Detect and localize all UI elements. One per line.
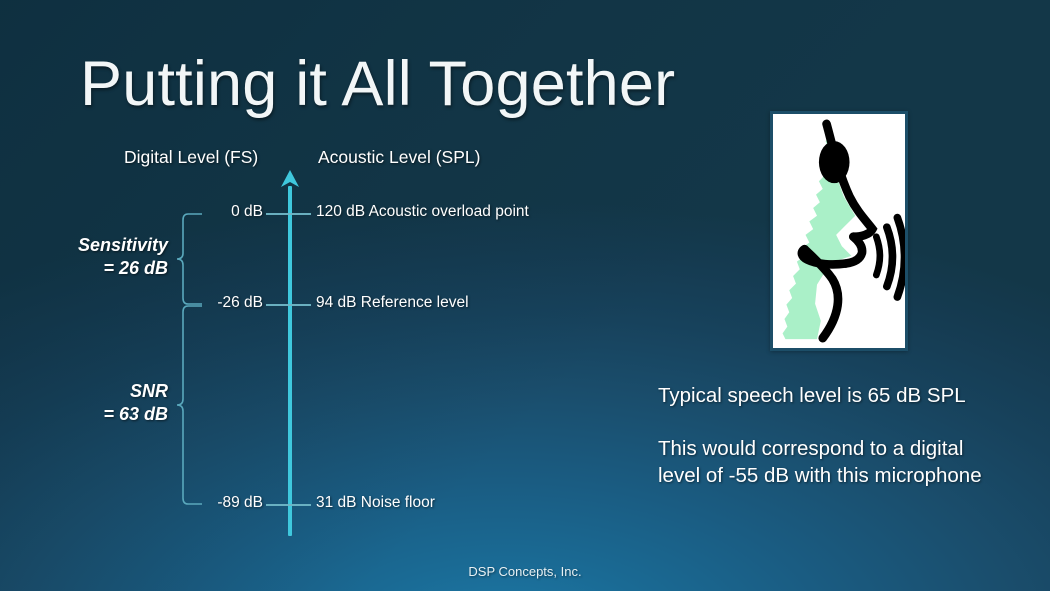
tick-mark: [266, 504, 311, 506]
bracket-sensitivity: [176, 213, 204, 305]
level-axis-line: [288, 186, 292, 536]
body-text-line-1: Typical speech level is 65 dB SPL: [658, 384, 966, 408]
bracket-label-sensitivity-line1: Sensitivity: [0, 234, 168, 257]
column-header-acoustic: Acoustic Level (SPL): [318, 147, 480, 168]
bracket-snr: [176, 305, 204, 505]
speaking-face-illustration: [770, 111, 908, 351]
acoustic-value-0: 120 dB Acoustic overload point: [316, 203, 529, 221]
up-arrow-icon: [280, 170, 300, 190]
digital-value-2: -89 dB: [217, 494, 263, 512]
bracket-label-sensitivity-line2: = 26 dB: [0, 257, 168, 280]
bracket-label-snr-line2: = 63 dB: [0, 403, 168, 426]
slide-footer: DSP Concepts, Inc.: [0, 564, 1050, 579]
acoustic-value-2: 31 dB Noise floor: [316, 494, 435, 512]
digital-value-0: 0 dB: [231, 203, 263, 221]
page-title: Putting it All Together: [80, 48, 675, 120]
column-header-digital: Digital Level (FS): [124, 147, 258, 168]
scale-row-noise-floor: -89 dB 31 dB Noise floor: [0, 494, 1050, 516]
slide-canvas: Putting it All Together Digital Level (F…: [0, 0, 1050, 591]
bracket-label-snr: SNR = 63 dB: [0, 380, 168, 426]
bracket-label-sensitivity: Sensitivity = 26 dB: [0, 234, 168, 280]
acoustic-value-1: 94 dB Reference level: [316, 294, 469, 312]
body-text-line-3: level of -55 dB with this microphone: [658, 464, 982, 488]
bracket-label-snr-line1: SNR: [0, 380, 168, 403]
body-text-line-2: This would correspond to a digital: [658, 437, 963, 461]
digital-value-1: -26 dB: [217, 294, 263, 312]
tick-mark: [266, 213, 311, 215]
tick-mark: [266, 304, 311, 306]
